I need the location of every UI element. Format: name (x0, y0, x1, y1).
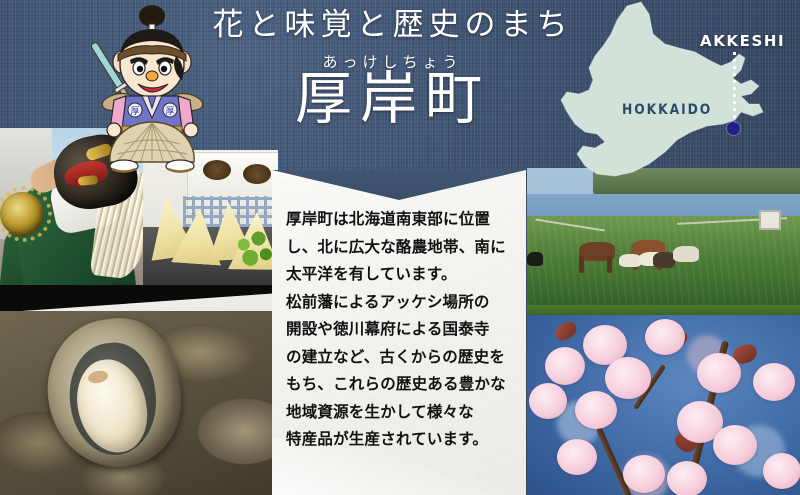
description-line-9: 特産品が生産されています。 (286, 426, 518, 454)
description-line-5: 開設や徳川幕府による国泰寺 (286, 316, 518, 344)
map-label-hokkaido: HOKKAIDO (622, 102, 712, 118)
description-line-7: もち、これらの歴史ある豊かな (286, 371, 518, 399)
banner-headline: 花と味覚と歴史のまち あっけしちょう 厚岸町 (205, 8, 580, 129)
description-line-2: し、北に広大な酪農地帯、南に (286, 234, 518, 262)
akkeshi-mascot-character: 厚 厚 (90, 4, 214, 174)
description-line-6: の建立など、古くからの歴史を (286, 344, 518, 372)
photo-cherry-blossoms (527, 305, 800, 495)
headline-tagline: 花と味覚と歴史のまち (205, 8, 580, 44)
description-line-3: 太平洋を有しています。 (286, 261, 518, 289)
description-line-1: 厚岸町は北海道南東部に位置 (286, 206, 518, 234)
description-line-4: 松前藩によるアッケシ場所の (286, 289, 518, 317)
hokkaido-map (545, 0, 800, 180)
map-city-dot-icon (727, 122, 740, 135)
photo-horses-pasture (527, 168, 800, 305)
headline-town-name: 厚岸町 (205, 70, 580, 130)
svg-text:厚: 厚 (130, 106, 139, 117)
map-label-akkeshi: AKKESHI (700, 32, 785, 50)
map-leader-dotted-line (733, 52, 736, 124)
akkeshi-town-banner: AKKESHI HOKKAIDO 花と味覚と歴史のまち あっけしちょう 厚岸町 (0, 0, 800, 495)
photo-oysters (0, 285, 278, 495)
town-description-text: 厚岸町は北海道南東部に位置 し、北に広大な酪農地帯、南に 太平洋を有しています。… (286, 206, 518, 454)
svg-text:厚: 厚 (165, 106, 174, 117)
description-line-8: 地域資源を生かして様々な (286, 399, 518, 427)
